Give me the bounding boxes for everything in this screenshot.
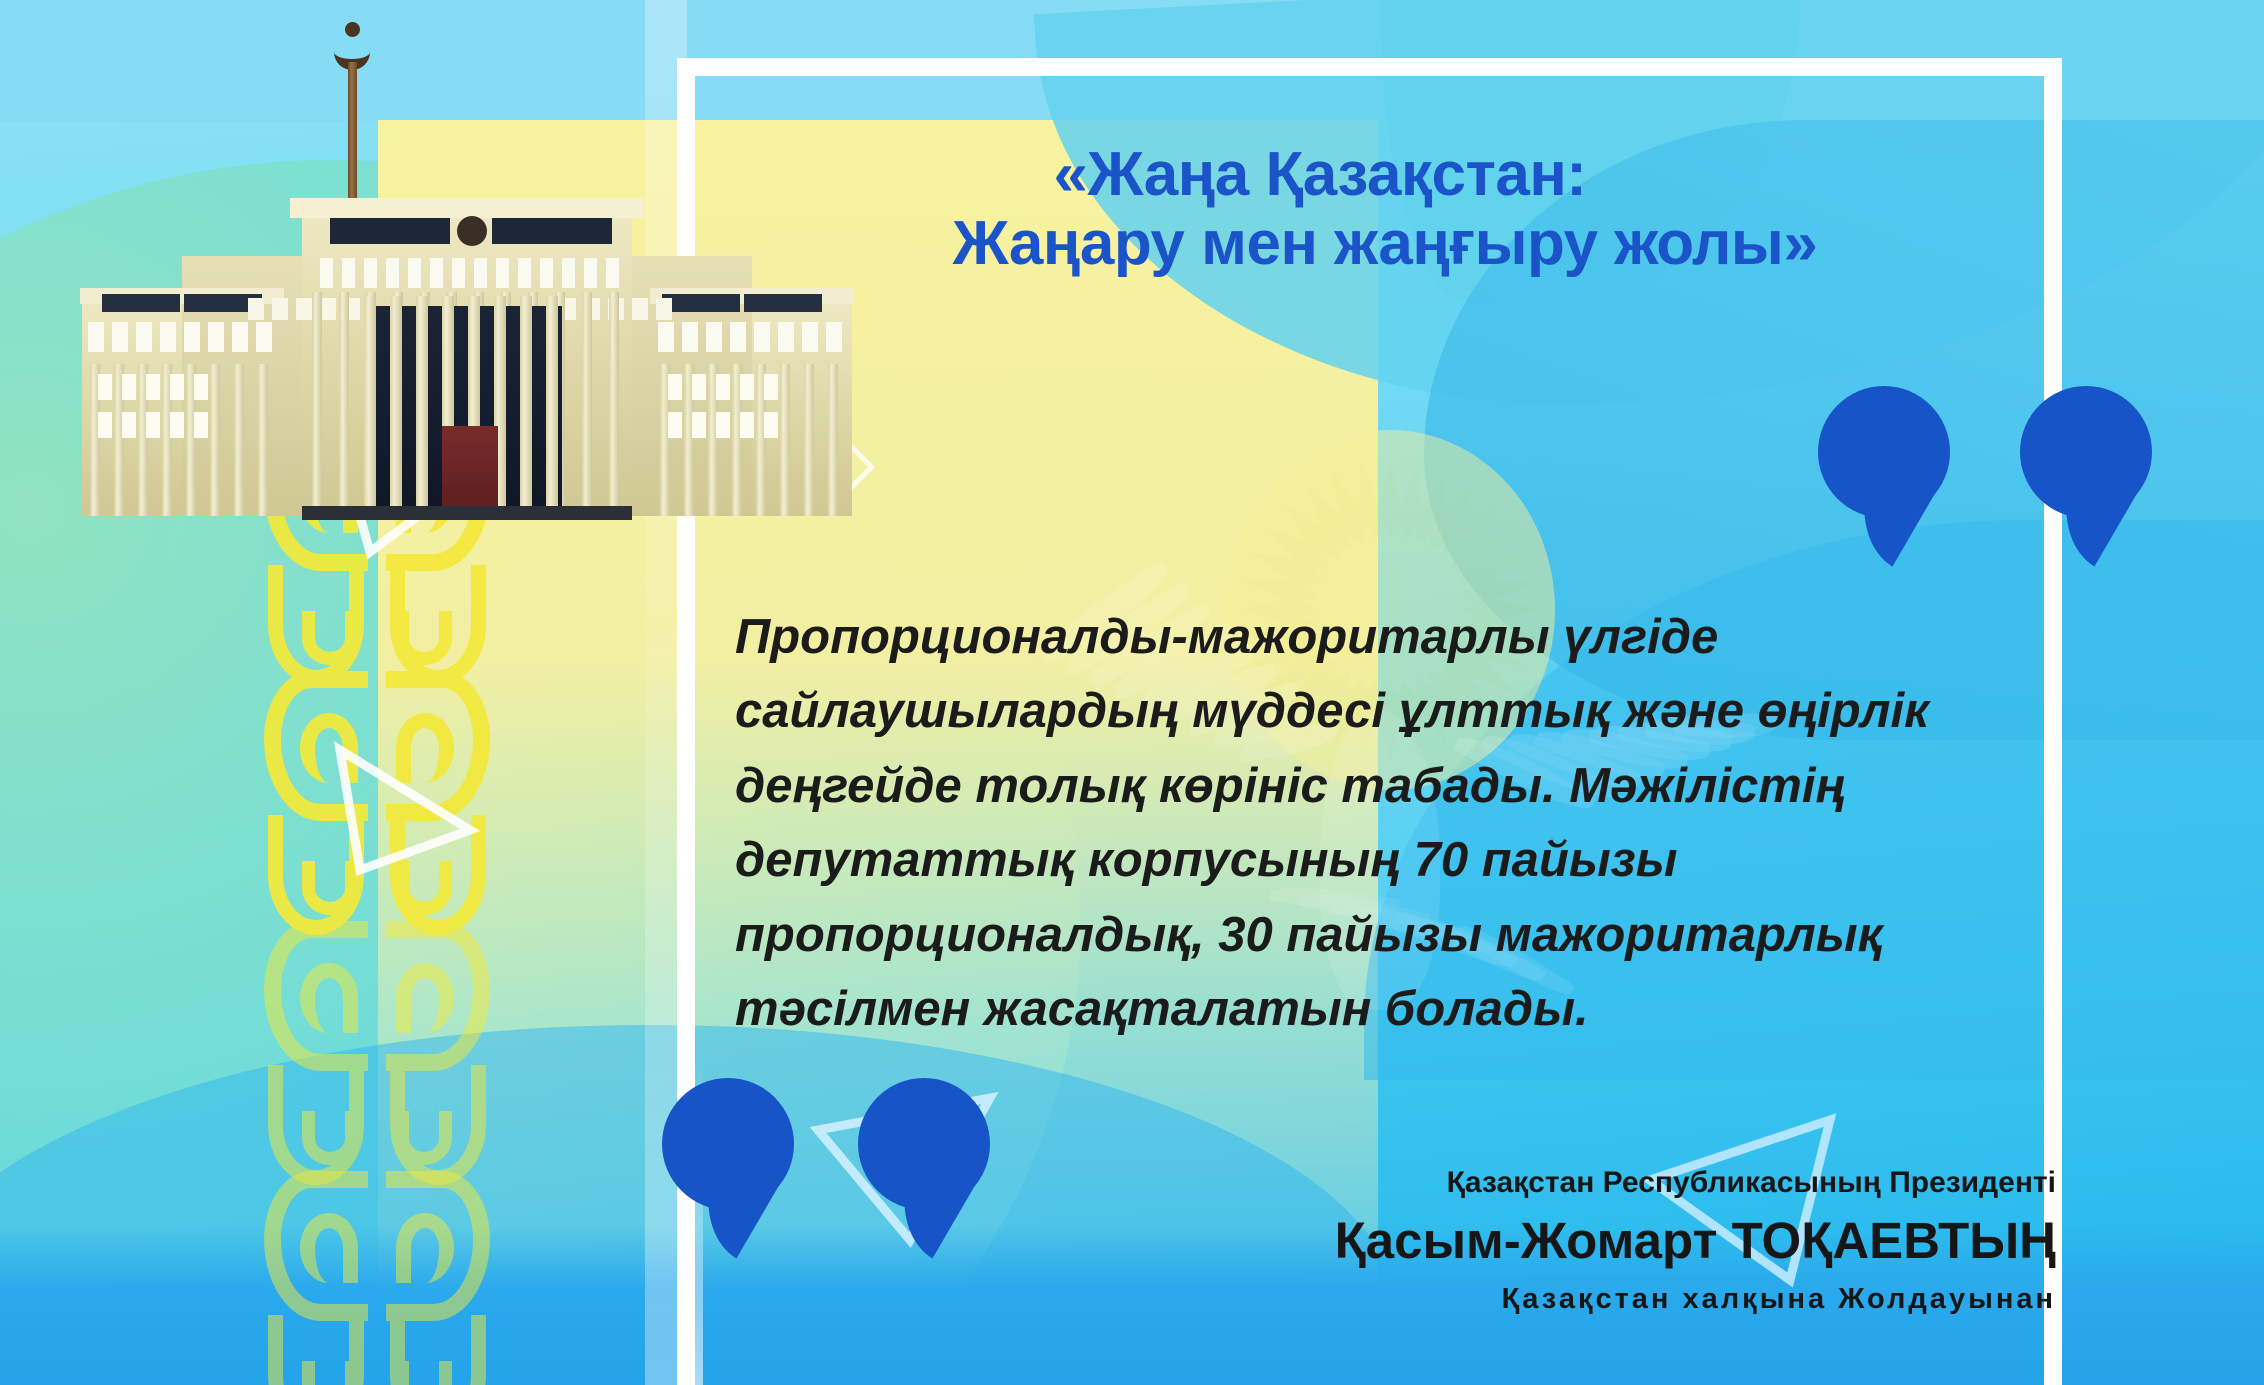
palace-window <box>632 298 648 320</box>
palace-column <box>416 296 428 516</box>
ornament-curl <box>396 1213 454 1283</box>
ornament-curl <box>396 1361 452 1385</box>
palace-plinth <box>302 506 632 520</box>
palace-roof-vent <box>662 294 740 312</box>
attribution-role: Қазақстан Республикасының Президенті <box>1056 1160 2056 1205</box>
palace-window <box>320 298 336 320</box>
palace-window <box>342 258 355 288</box>
palace-column <box>828 364 838 516</box>
ornament-half <box>377 915 492 1165</box>
page-title: «Жаңа Қазақстан: Жаңару мен жаңғыру жолы… <box>700 140 2030 279</box>
palace-window <box>98 412 112 438</box>
palace-window <box>740 374 754 400</box>
palace-column <box>582 292 592 516</box>
palace-column <box>804 364 814 516</box>
palace-emblem <box>457 216 487 246</box>
palace-window <box>740 412 754 438</box>
ornament-curl <box>302 1111 358 1165</box>
palace-window <box>518 258 531 288</box>
palace-window <box>364 258 377 288</box>
quote-mark-icon <box>858 1078 990 1210</box>
palace-window <box>272 298 288 320</box>
palace-window <box>474 258 487 288</box>
palace-window <box>584 258 597 288</box>
palace-window <box>668 412 682 438</box>
quote-line: депутаттық корпусының 70 пайызы <box>735 823 2055 897</box>
palace-column <box>258 364 268 516</box>
palace-window <box>562 258 575 288</box>
palace-door <box>442 426 498 516</box>
palace-window <box>232 322 248 352</box>
quote-line: сайлаушылардың мүддесі ұлттық және өңірл… <box>735 674 2055 748</box>
palace-window <box>194 412 208 438</box>
quote-mark-icon <box>2020 386 2152 518</box>
quote-line: Пропорционалды-мажоритарлы үлгіде <box>735 600 2055 674</box>
palace-window <box>716 412 730 438</box>
palace-roof-vent <box>744 294 822 312</box>
palace-window <box>136 322 152 352</box>
palace-window <box>692 374 706 400</box>
palace-window <box>208 322 224 352</box>
palace-column <box>780 364 790 516</box>
quote-line: пропорционалдық, 30 пайызы мажоритарлық <box>735 898 2055 972</box>
palace-window <box>408 258 421 288</box>
palace-window <box>706 322 722 352</box>
palace-column <box>609 292 619 516</box>
palace-window <box>716 374 730 400</box>
palace-window <box>146 412 160 438</box>
ornament-curl <box>300 1213 358 1283</box>
palace-window <box>606 258 619 288</box>
palace-window <box>256 322 272 352</box>
palace-column <box>210 364 220 516</box>
quote-mark-icon <box>662 1078 794 1210</box>
ornament-curl <box>300 963 358 1033</box>
attribution-name: Қасым-Жомарт ТОҚАЕВТЫҢ <box>1056 1209 2056 1273</box>
palace-window <box>802 322 818 352</box>
palace-window <box>88 322 104 352</box>
palace-window <box>112 322 128 352</box>
palace-column <box>312 292 322 516</box>
palace-window <box>160 322 176 352</box>
palace-window <box>692 412 706 438</box>
quote-line: деңгейде толық көрініс табады. Мәжілісті… <box>735 749 2055 823</box>
title-line-2: Жаңару мен жаңғыру жолы» <box>700 209 2030 278</box>
palace-roof-vent <box>102 294 180 312</box>
palace-column <box>364 296 376 516</box>
ornament-curl <box>396 963 454 1033</box>
palace-window <box>170 412 184 438</box>
palace-attic-window <box>330 218 450 244</box>
ornament-curl <box>302 611 358 665</box>
ornament-curl <box>396 1111 452 1165</box>
ornament-half <box>262 915 377 1165</box>
palace-window <box>658 322 674 352</box>
quote-line: тәсілмен жасақталатын болады. <box>735 972 2055 1046</box>
quote-text: Пропорционалды-мажоритарлы үлгіде сайлау… <box>735 600 2055 1047</box>
ornament-curl <box>396 611 452 665</box>
palace-cornice <box>290 198 644 218</box>
triangle-outline-icon <box>330 740 480 880</box>
palace-window <box>386 258 399 288</box>
palace-window <box>826 322 842 352</box>
palace-window <box>656 298 672 320</box>
title-line-1: «Жаңа Қазақстан: <box>700 140 2030 209</box>
palace-window <box>98 374 112 400</box>
presidential-palace-image <box>62 6 642 476</box>
ornament-half <box>377 1165 492 1385</box>
palace-window <box>296 298 312 320</box>
palace-window <box>496 258 509 288</box>
ornament-unit <box>262 1165 492 1385</box>
palace-window <box>764 374 778 400</box>
palace-column <box>390 296 402 516</box>
palace-column <box>520 296 532 516</box>
palace-window <box>320 258 333 288</box>
palace-column <box>234 364 244 516</box>
palace-window <box>754 322 770 352</box>
palace-window <box>682 322 698 352</box>
palace-window <box>170 374 184 400</box>
palace-window <box>430 258 443 288</box>
attribution-source: Қазақстан халқына Жолдауынан <box>1056 1283 2056 1316</box>
palace-window <box>778 322 794 352</box>
palace-window <box>122 374 136 400</box>
palace-column <box>546 296 558 516</box>
ornament-unit <box>262 915 492 1165</box>
palace-window <box>764 412 778 438</box>
ornament-half <box>262 1165 377 1385</box>
palace-window <box>668 374 682 400</box>
palace-window <box>730 322 746 352</box>
palace-window <box>184 322 200 352</box>
palace-window <box>540 258 553 288</box>
palace-window <box>122 412 136 438</box>
palace-window <box>248 298 264 320</box>
kazakh-ornament-icon <box>262 415 492 1385</box>
palace-column <box>339 292 349 516</box>
palace-window <box>146 374 160 400</box>
palace-window <box>194 374 208 400</box>
palace-attic-window <box>492 218 612 244</box>
quote-mark-icon <box>1818 386 1950 518</box>
poster-canvas: «Жаңа Қазақстан: Жаңару мен жаңғыру жолы… <box>0 0 2264 1385</box>
palace-window <box>452 258 465 288</box>
attribution-block: Қазақстан Республикасының Президенті Қас… <box>1056 1160 2056 1316</box>
ornament-curl <box>302 1361 358 1385</box>
